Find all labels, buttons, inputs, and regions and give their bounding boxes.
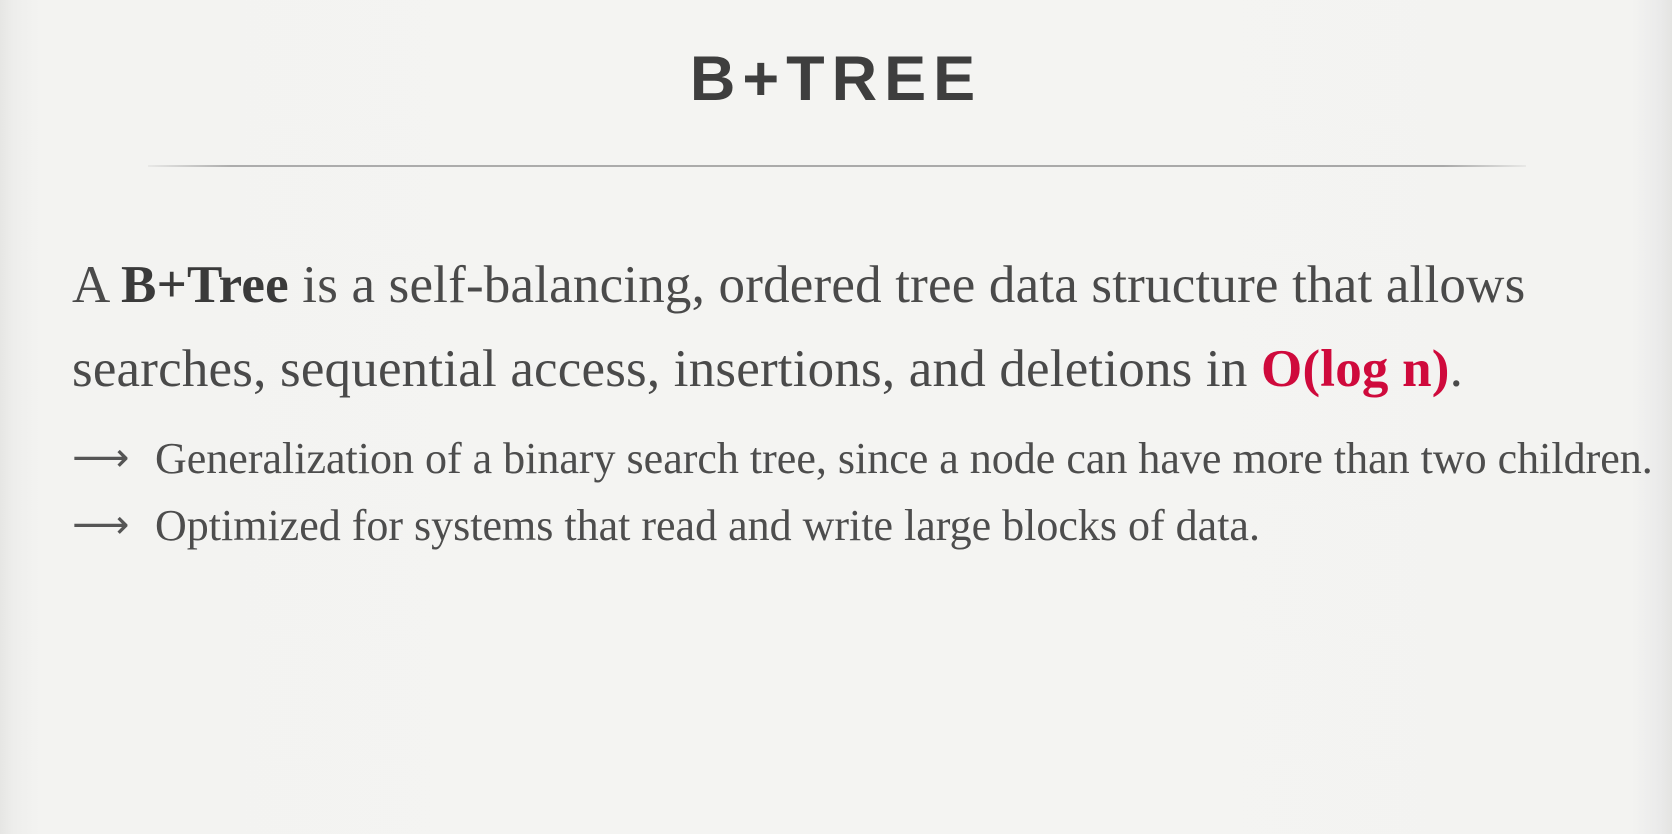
body-content: A B+Tree is a self-balancing, ordered tr… xyxy=(72,243,1632,559)
list-item-label: Optimized for systems that read and writ… xyxy=(155,501,1260,550)
intro-tail: . xyxy=(1450,340,1463,398)
intro-paragraph: A B+Tree is a self-balancing, ordered tr… xyxy=(72,243,1552,411)
long-right-arrow-icon: ⟶ xyxy=(72,425,129,492)
page-title: B+TREE xyxy=(0,48,1672,111)
bullet-list: ⟶ Generalization of a binary search tree… xyxy=(72,425,1632,559)
long-right-arrow-icon: ⟶ xyxy=(72,492,129,559)
list-item: ⟶ Optimized for systems that read and wr… xyxy=(72,492,1672,559)
title-divider xyxy=(148,165,1526,167)
slide-canvas: B+TREE A B+Tree is a self-balancing, ord… xyxy=(0,0,1672,834)
intro-lead: A xyxy=(72,256,121,314)
list-item: ⟶ Generalization of a binary search tree… xyxy=(72,425,1672,492)
list-item-label: Generalization of a binary search tree, … xyxy=(155,434,1653,483)
btree-term: B+Tree xyxy=(121,256,289,314)
title-block: B+TREE xyxy=(0,48,1672,111)
complexity-highlight: O(log n) xyxy=(1261,340,1450,398)
